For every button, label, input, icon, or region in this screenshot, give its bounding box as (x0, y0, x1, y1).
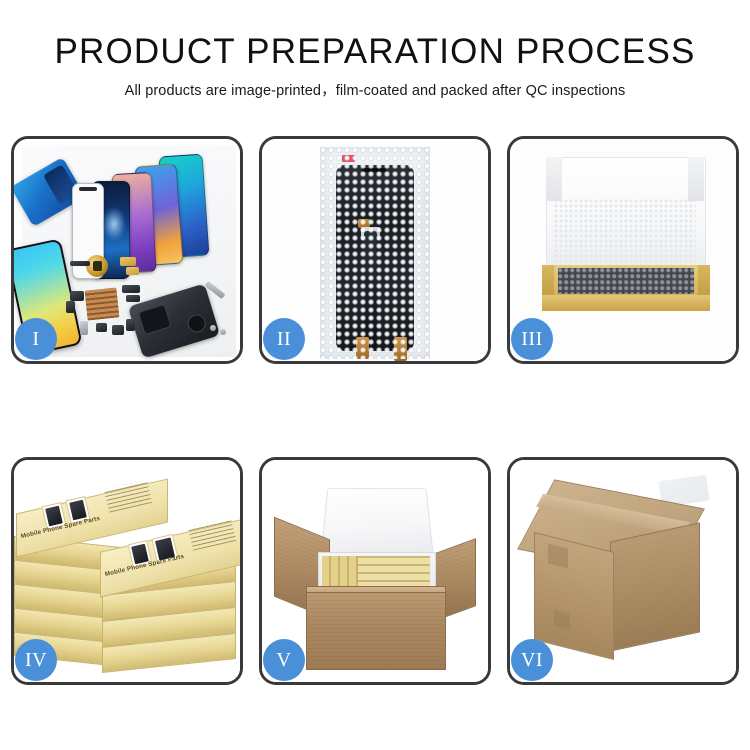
screen-glare (102, 207, 126, 241)
screw-1 (210, 325, 216, 331)
yellow-box-tray (542, 265, 710, 311)
bubble-texture (320, 147, 430, 359)
process-steps-grid: I II (11, 136, 739, 685)
process-step-panel-4[interactable]: Mobile Phone Spare Parts Mobile Phone Sp… (11, 457, 243, 685)
process-step-panel-6[interactable]: VI (507, 457, 739, 685)
page-subtitle: All products are image-printed，film-coat… (0, 81, 750, 101)
chip-part-3 (66, 301, 75, 313)
chip-part-1 (70, 261, 90, 266)
process-step-panel-3[interactable]: III (507, 136, 739, 364)
carton-front-face (534, 532, 614, 660)
box-lid-right-flap (688, 157, 704, 201)
chip-part-4 (122, 285, 140, 293)
chip-part-2 (70, 291, 84, 301)
flex-cable-2 (126, 267, 139, 275)
box-lid-left-flap (546, 157, 562, 201)
foam-lid (320, 488, 434, 559)
step-badge-1: I (15, 318, 57, 360)
small-part-3 (112, 325, 124, 335)
speaker-component (86, 255, 108, 277)
step-badge-2: II (263, 318, 305, 360)
step-badge-5: V (263, 639, 305, 681)
step-badge-6: VI (511, 639, 553, 681)
chip-part-5 (126, 295, 140, 302)
step-badge-4: IV (15, 639, 57, 681)
battery-part (126, 319, 135, 331)
screw-2 (220, 329, 226, 335)
process-step-panel-2[interactable]: II (259, 136, 491, 364)
step-badge-3: III (511, 318, 553, 360)
small-part-1 (80, 321, 88, 335)
carton-side-face (610, 522, 700, 651)
process-step-panel-1[interactable]: I (11, 136, 243, 364)
small-part-2 (96, 323, 107, 332)
page-header: PRODUCT PREPARATION PROCESS All products… (0, 0, 750, 101)
bubble-wrap-sleeve (320, 147, 430, 359)
white-foam-sheet (554, 199, 696, 271)
antistatic-bubble-film (558, 268, 694, 294)
flex-cable-1 (120, 257, 136, 266)
carton-body (306, 592, 446, 670)
screw-organizer-mat (85, 287, 120, 320)
page-title: PRODUCT PREPARATION PROCESS (0, 32, 750, 72)
process-step-panel-5[interactable]: V (259, 457, 491, 685)
